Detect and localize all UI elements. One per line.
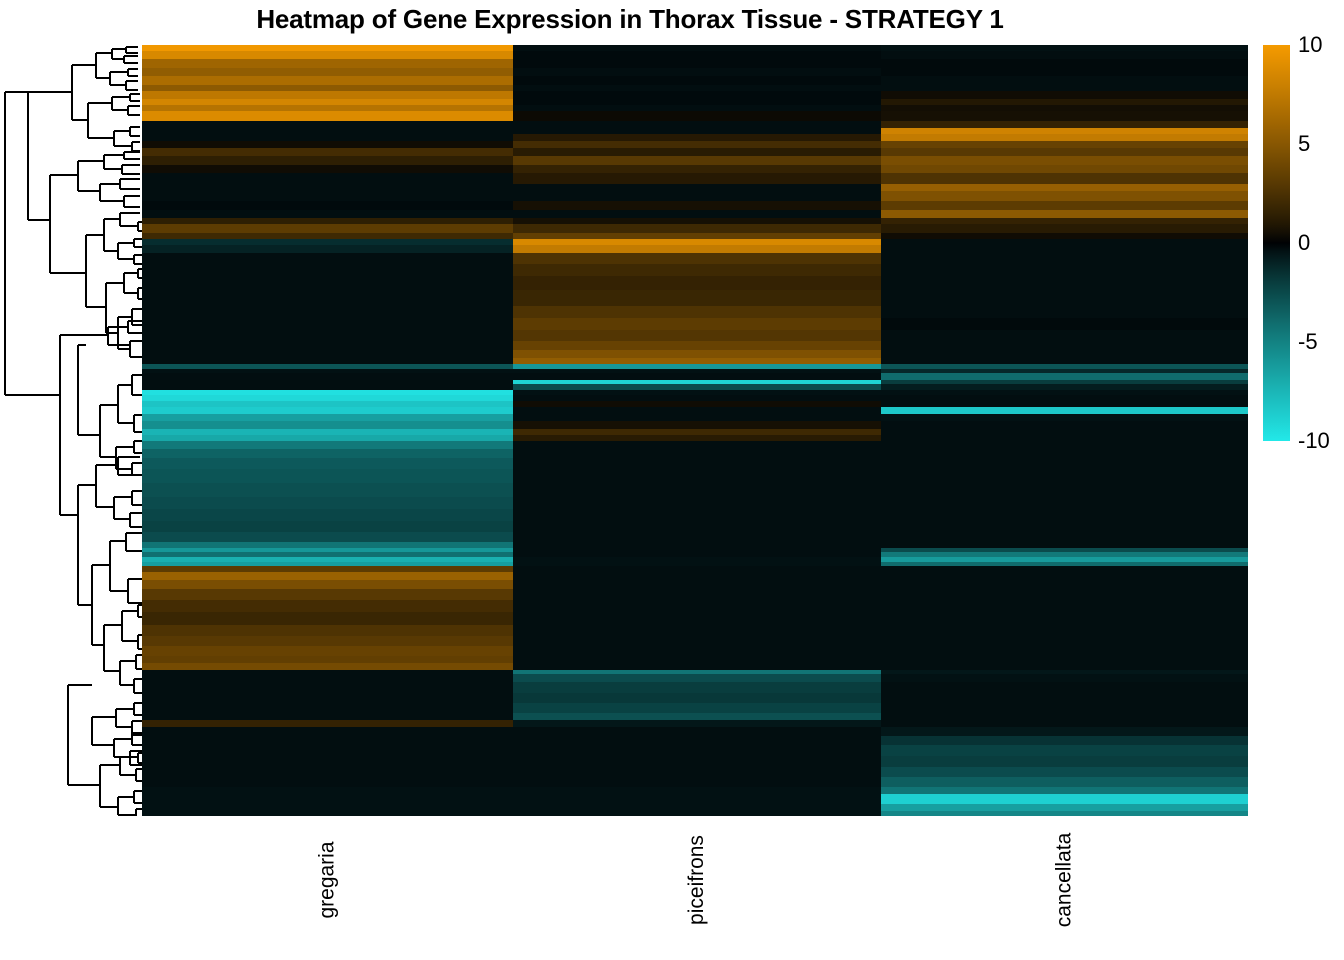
x-tick-label: gregaria [315,841,339,918]
heatmap-cell [881,224,1248,234]
heatmap-cell [513,318,881,331]
heatmap-cell [142,191,513,201]
heatmap-cell [513,483,881,497]
heatmap-cell [513,264,881,277]
heatmap-cell [513,253,881,264]
heatmap-cell [881,290,1248,306]
heatmap-column-cancellata [881,45,1248,816]
heatmap-cell [513,756,881,767]
heatmap-cell [142,156,513,166]
heatmap-cell [142,341,513,351]
heatmap-cell [881,264,1248,277]
heatmap-cell [881,767,1248,778]
heatmap-cell [513,589,881,600]
heatmap-cell [513,636,881,647]
heatmap-cell [142,736,513,746]
heatmap-cell [513,600,881,613]
heatmap-cell [881,636,1248,647]
heatmap-cell [513,580,881,590]
heatmap-cell [142,612,513,625]
heatmap-cell [513,693,881,704]
heatmap-cell [513,449,881,459]
heatmap-cell [513,224,881,234]
heatmap-cell [881,693,1248,704]
heatmap-cell [881,173,1248,184]
heatmap-cell [881,458,1248,469]
heatmap-cell [881,253,1248,264]
heatmap-cell [881,76,1248,86]
heatmap-cell [513,458,881,469]
heatmap-cell [513,111,881,121]
heatmap-cell [142,264,513,277]
heatmap-cell [142,727,513,737]
heatmap-cell [142,794,513,804]
heatmap-cell [142,330,513,341]
heatmap-cell [142,76,513,86]
heatmap-cell [881,330,1248,341]
colorbar-tick-label: 5 [1298,131,1310,157]
heatmap-cell [513,59,881,69]
heatmap-cell [513,727,881,737]
heatmap-cell [881,703,1248,713]
heatmap-cell [513,341,881,351]
colorbar-tick-label: -5 [1298,329,1318,355]
heatmap-cell [513,736,881,746]
heatmap-cell [881,521,1248,532]
heatmap-cell [513,794,881,804]
heatmap-cell [142,532,513,542]
heatmap-cell [142,59,513,69]
heatmap-cell [142,600,513,613]
colorbar: 1050-5-10 [1263,45,1344,445]
heatmap-figure: Heatmap of Gene Expression in Thorax Tis… [0,0,1344,960]
heatmap-cell [142,682,513,693]
heatmap-cell [881,794,1248,804]
heatmap-cell [881,736,1248,746]
heatmap-cell [142,636,513,647]
heatmap-cell [513,290,881,306]
heatmap-cell [881,201,1248,211]
heatmap-cell [142,521,513,532]
heatmap-cell [513,497,881,510]
x-tick-label: cancellata [1052,833,1076,928]
heatmap-cell [513,767,881,778]
heatmap-cell [881,483,1248,497]
heatmap-cell [513,306,881,319]
heatmap-cell [142,693,513,704]
heatmap-cell [881,497,1248,510]
heatmap-cell [881,111,1248,121]
heatmap-cell [142,111,513,121]
heatmap-cell [142,646,513,656]
colorbar-tick-label: 10 [1298,32,1322,58]
heatmap-cell [881,589,1248,600]
heatmap-grid [142,45,1248,816]
page-title: Heatmap of Gene Expression in Thorax Tis… [0,4,1260,35]
heatmap-cell [881,756,1248,767]
heatmap-cell [142,580,513,590]
heatmap-cell [142,767,513,778]
heatmap-cell [142,777,513,787]
heatmap-cell [142,449,513,459]
heatmap-cell [881,509,1248,522]
heatmap-cell [881,341,1248,351]
heatmap-cell [881,625,1248,636]
heatmap-cell [513,777,881,787]
heatmap-cell [881,682,1248,693]
x-tick-piceifrons: piceifrons [513,816,881,960]
heatmap-cell [513,646,881,656]
heatmap-column-gregaria [142,45,513,816]
heatmap-cell [881,156,1248,166]
heatmap-cell [881,646,1248,656]
heatmap-cell [142,173,513,184]
heatmap-cell [513,625,881,636]
row-dendrogram [0,45,142,816]
heatmap-cell [513,509,881,522]
heatmap-cell [513,173,881,184]
heatmap-cell [513,469,881,483]
heatmap-cell [881,745,1248,756]
heatmap-cell [513,612,881,625]
heatmap-cell [513,276,881,290]
heatmap-cell [513,191,881,201]
heatmap-cell [142,318,513,331]
heatmap-cell [881,191,1248,201]
x-tick-gregaria: gregaria [142,816,513,960]
heatmap-cell [881,469,1248,483]
heatmap-cell [513,76,881,86]
heatmap-cell [142,201,513,211]
colorbar-gradient [1263,45,1290,441]
heatmap-cell [513,532,881,542]
heatmap-cell [513,703,881,713]
x-axis-labels: gregariapiceifronscancellata [142,816,1248,960]
heatmap-cell [142,306,513,319]
heatmap-cell [513,682,881,693]
heatmap-cell [142,253,513,264]
x-tick-label: piceifrons [685,835,709,925]
heatmap-cell [513,201,881,211]
heatmap-cell [881,600,1248,613]
heatmap-cell [881,449,1248,459]
colorbar-tick-label: 0 [1298,230,1310,256]
heatmap-cell [142,458,513,469]
heatmap-cell [142,224,513,234]
heatmap-cell [142,756,513,767]
dendrogram-svg [0,45,142,816]
heatmap-cell [142,469,513,483]
heatmap-cell [513,745,881,756]
heatmap-cell [881,318,1248,331]
heatmap-cell [881,612,1248,625]
heatmap-cell [881,727,1248,737]
heatmap-cell [881,59,1248,69]
heatmap-cell [513,330,881,341]
heatmap-cell [142,290,513,306]
heatmap-cell [142,497,513,510]
heatmap-cell [142,703,513,713]
heatmap-cell [142,745,513,756]
heatmap-cell [881,580,1248,590]
heatmap-cell [881,777,1248,787]
heatmap-cell [513,156,881,166]
heatmap-cell [142,625,513,636]
heatmap-column-piceifrons [513,45,881,816]
x-tick-cancellata: cancellata [881,816,1248,960]
heatmap-cell [142,483,513,497]
colorbar-tick-label: -10 [1298,428,1330,454]
heatmap-cell [881,276,1248,290]
heatmap-cell [881,532,1248,542]
heatmap-cell [142,509,513,522]
heatmap-cell [881,306,1248,319]
heatmap-cell [142,276,513,290]
heatmap-cell [142,589,513,600]
heatmap-cell [513,521,881,532]
